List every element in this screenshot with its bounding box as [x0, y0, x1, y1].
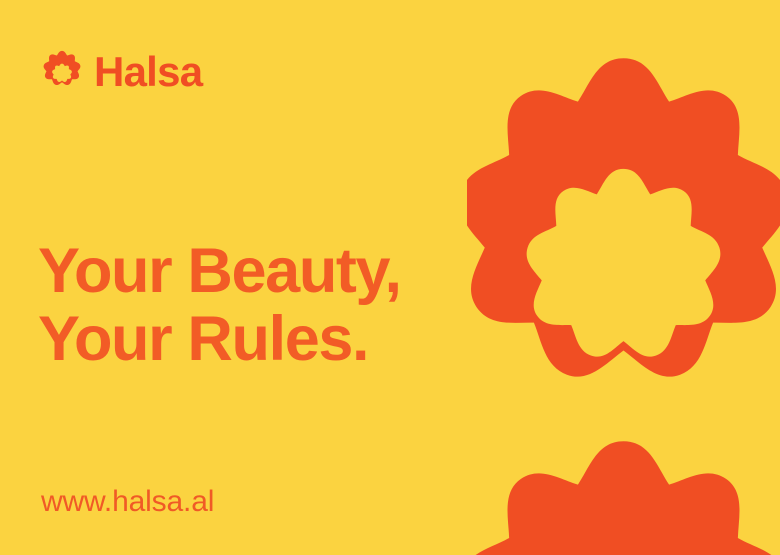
headline-line-1: Your Beauty,: [38, 238, 401, 305]
brand-logo-lockup[interactable]: Halsa: [40, 50, 202, 94]
star-pattern-panel: [467, 0, 780, 555]
brand-wordmark: Halsa: [94, 51, 202, 93]
website-url[interactable]: www.halsa.al: [41, 487, 214, 517]
headline: Your Beauty, Your Rules.: [38, 238, 401, 373]
content-panel: Halsa Your Beauty, Your Rules. www.halsa…: [0, 0, 467, 555]
eight-point-star-flower-icon: [40, 50, 84, 94]
headline-line-2: Your Rules.: [38, 306, 401, 373]
promotional-banner: Halsa Your Beauty, Your Rules. www.halsa…: [0, 0, 780, 555]
star-pattern-graphic: [467, 0, 780, 555]
